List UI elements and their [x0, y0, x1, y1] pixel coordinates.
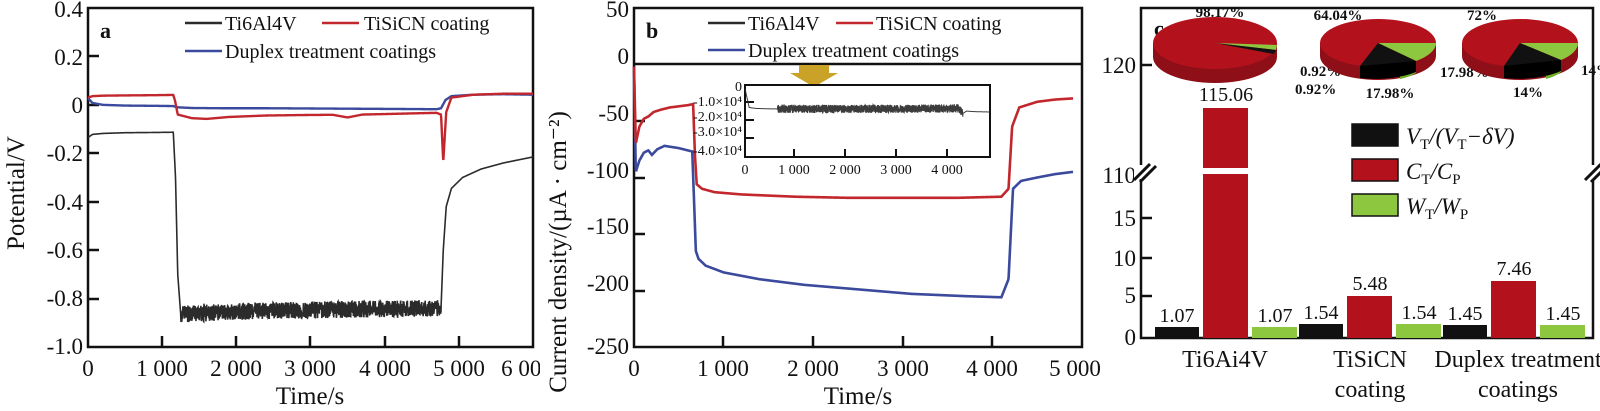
panel-a-xlabel: Time/s [276, 383, 345, 410]
svg-text:-200: -200 [587, 271, 629, 296]
svg-text:1 000: 1 000 [697, 356, 749, 381]
panel-b-xticklabels: 0 1 000 2 000 3 000 4 000 5 000 [628, 356, 1100, 381]
panel-a: Potential/V 0.4 0.2 0 -0.2 -0.4 -0.6 -0.… [0, 0, 540, 411]
pie-2-label-black: 17.98% [1366, 86, 1415, 102]
pie-1-label-red: 98.17% [1196, 5, 1245, 21]
pie-3-label-black: 14% [1513, 85, 1543, 101]
svg-text:-100: -100 [587, 158, 629, 183]
svg-text:1.45: 1.45 [1448, 303, 1483, 325]
svg-text:1 000: 1 000 [778, 163, 810, 178]
bar-ct-tisicn [1347, 296, 1392, 338]
panel-a-xticklabels: 0 1 000 2 000 3 000 4 000 5 000 6 000 [82, 356, 540, 381]
bar-ct-ti6ai4v [1203, 108, 1248, 338]
svg-text:-1.0: -1.0 [47, 334, 83, 359]
svg-text:0.4: 0.4 [54, 0, 83, 22]
svg-text:-250: -250 [587, 334, 629, 359]
svg-text:0: 0 [1125, 325, 1137, 350]
bar-ct-duplex [1491, 281, 1536, 338]
panel-c-yticklabels: 120 110 15 10 5 0 [1102, 53, 1137, 350]
bar-wt-ti6ai4v [1252, 327, 1297, 338]
svg-text:Duplex treatment: Duplex treatment [1434, 347, 1600, 373]
panel-a-label: a [100, 18, 111, 43]
svg-text:0: 0 [735, 80, 742, 95]
bar-vt-duplex [1443, 325, 1487, 338]
legend-label-tisicn: TiSiCN coating [364, 13, 489, 35]
svg-text:0: 0 [742, 163, 749, 178]
panel-a-ylabel: Potential/V [3, 136, 30, 250]
bar-wt-tisicn [1396, 324, 1441, 338]
panel-b-yticklabels: 50 0 -50 -100 -150 -200 -250 [587, 0, 629, 359]
svg-text:7.46: 7.46 [1497, 258, 1532, 280]
bar-vt-ti6ai4v [1155, 327, 1199, 338]
legend-swatch-ct [1352, 159, 1398, 181]
svg-text:-0.2: -0.2 [47, 141, 83, 166]
legend-label-wt: WT/WP [1406, 194, 1468, 223]
panel-c: 120 110 15 10 5 0 [1100, 0, 1600, 411]
svg-text:0: 0 [82, 356, 94, 381]
bar-axis-break-gap [1203, 168, 1248, 174]
svg-text:-2.0×10⁴: -2.0×10⁴ [693, 110, 742, 125]
svg-text:110: 110 [1102, 163, 1136, 188]
svg-text:3 000: 3 000 [877, 356, 929, 381]
legend-label-duplex: Duplex treatment coatings [748, 40, 959, 62]
svg-text:-1.0×10⁴: -1.0×10⁴ [693, 95, 742, 110]
panel-b-xlabel: Time/s [824, 383, 893, 410]
pie-3-label-green: 14% [1581, 63, 1600, 79]
panel-b: Current density/(µA · cm⁻²) 50 0 -50 -10… [540, 0, 1100, 411]
pie-2-label-red: 64.04% [1314, 8, 1363, 24]
bar-wt-duplex [1540, 325, 1585, 338]
legend-label-tisicn: TiSiCN coating [876, 13, 1001, 35]
legend-label-ti6al4v: Ti6Al4V [225, 13, 297, 35]
svg-text:5.48: 5.48 [1353, 273, 1388, 295]
svg-text:5 000: 5 000 [1049, 356, 1100, 381]
svg-text:0.2: 0.2 [54, 45, 83, 70]
svg-text:-4.0×10⁴: -4.0×10⁴ [693, 144, 742, 159]
svg-text:1.07: 1.07 [1258, 305, 1293, 327]
svg-text:5: 5 [1125, 283, 1137, 308]
legend-label-ti6al4v: Ti6Al4V [748, 13, 820, 35]
svg-text:1.54: 1.54 [1304, 302, 1339, 324]
svg-text:-50: -50 [598, 101, 629, 126]
svg-text:1.45: 1.45 [1546, 303, 1581, 325]
svg-text:-3.0×10⁴: -3.0×10⁴ [693, 125, 742, 140]
legend-swatch-wt [1352, 194, 1398, 216]
pie-3-label-red: 72% [1467, 8, 1497, 24]
inset-plot-frame [745, 85, 990, 157]
bar-vt-tisicn [1299, 324, 1343, 338]
pie-1-label-black: 0.92% [1295, 82, 1336, 98]
svg-text:2 000: 2 000 [787, 356, 839, 381]
panel-b-label: b [646, 18, 658, 43]
svg-text:15: 15 [1113, 206, 1136, 231]
svg-text:-0.6: -0.6 [47, 238, 83, 263]
legend-swatch-vt [1352, 124, 1398, 146]
svg-text:3 000: 3 000 [284, 356, 336, 381]
svg-text:5 000: 5 000 [433, 356, 485, 381]
svg-text:4 000: 4 000 [931, 163, 963, 178]
svg-text:115.06: 115.06 [1199, 84, 1253, 106]
svg-text:coating: coating [1335, 377, 1406, 403]
svg-text:4 000: 4 000 [359, 356, 411, 381]
svg-text:50: 50 [606, 0, 629, 22]
svg-text:0: 0 [72, 93, 84, 118]
svg-text:0: 0 [618, 44, 630, 69]
svg-text:3 000: 3 000 [880, 163, 912, 178]
legend-label-duplex: Duplex treatment coatings [225, 41, 436, 63]
svg-text:120: 120 [1102, 53, 1137, 78]
svg-text:1.54: 1.54 [1402, 302, 1437, 324]
category-label-ti6ai4v: Ti6Ai4V [1182, 347, 1268, 373]
svg-text:TiSiCN: TiSiCN [1333, 347, 1407, 373]
svg-text:10: 10 [1113, 246, 1136, 271]
svg-text:1.07: 1.07 [1160, 305, 1195, 327]
svg-text:1 000: 1 000 [136, 356, 188, 381]
panel-c-category-labels: Ti6Ai4V TiSiCN coating Duplex treatment … [1182, 347, 1600, 403]
svg-text:4 000: 4 000 [966, 356, 1018, 381]
svg-text:2 000: 2 000 [829, 163, 861, 178]
svg-text:-150: -150 [587, 214, 629, 239]
svg-text:-0.4: -0.4 [47, 190, 84, 215]
svg-text:2 000: 2 000 [210, 356, 262, 381]
panel-a-yticklabels: 0.4 0.2 0 -0.2 -0.4 -0.6 -0.8 -1.0 [47, 0, 84, 359]
svg-text:0: 0 [628, 356, 640, 381]
svg-text:-0.8: -0.8 [47, 286, 83, 311]
svg-text:coatings: coatings [1478, 377, 1558, 403]
figure-root: Potential/V 0.4 0.2 0 -0.2 -0.4 -0.6 -0.… [0, 0, 1600, 411]
svg-text:6 000: 6 000 [501, 356, 540, 381]
panel-b-ylabel: Current density/(µA · cm⁻²) [545, 111, 572, 393]
